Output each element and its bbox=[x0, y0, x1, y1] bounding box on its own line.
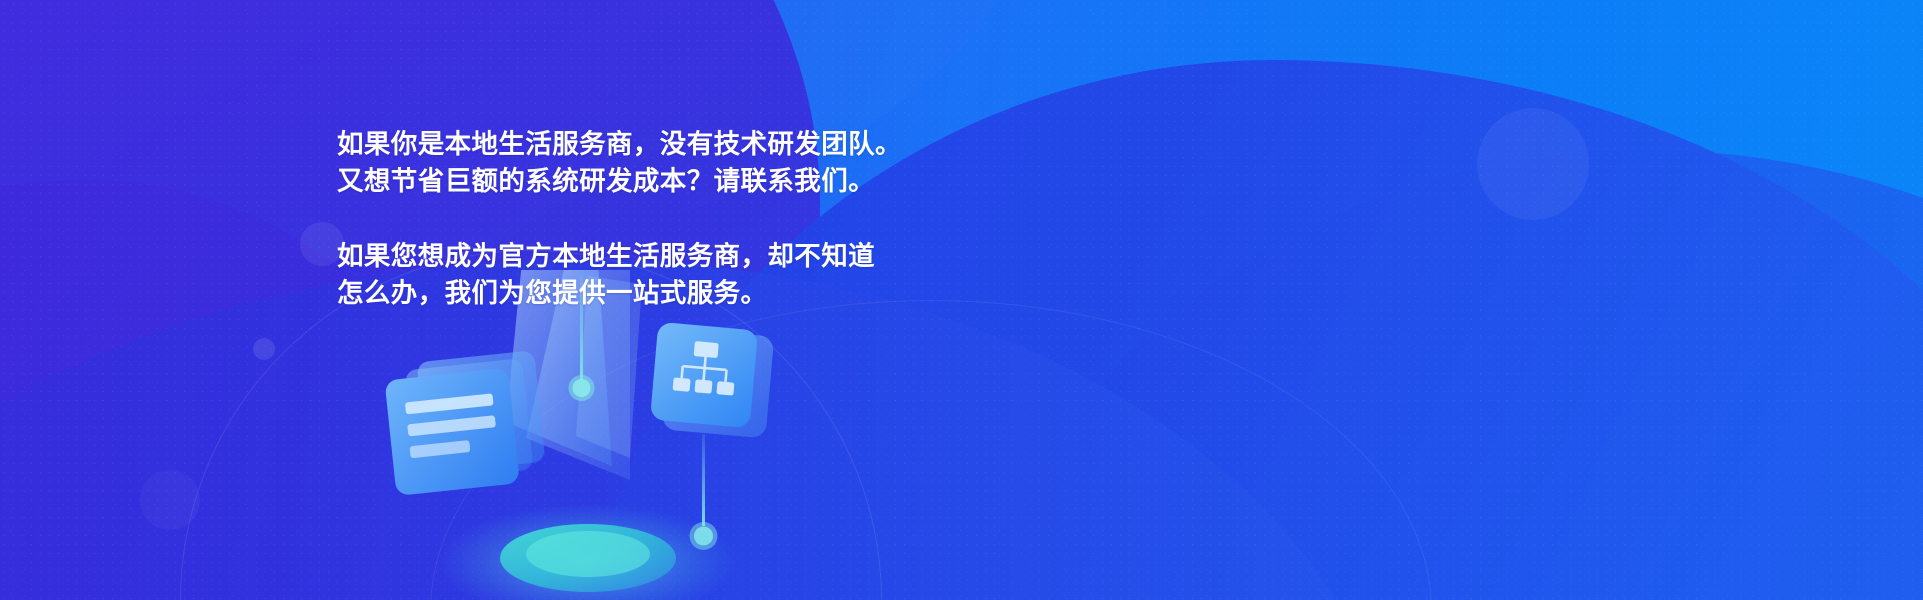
glow-ellipse-icon bbox=[438, 504, 738, 600]
banner-stage: 如果你是本地生活服务商，没有技术研发团队。 又想节省巨额的系统研发成本？请联系我… bbox=[0, 0, 1923, 600]
org-chart-card-icon bbox=[650, 322, 774, 439]
promo-line: 如果你是本地生活服务商，没有技术研发团队。 bbox=[337, 126, 1057, 163]
promo-copy: 如果你是本地生活服务商，没有技术研发团队。 又想节省巨额的系统研发成本？请联系我… bbox=[337, 126, 1057, 312]
promo-line: 如果您想成为官方本地生活服务商，却不知道 bbox=[337, 238, 1057, 275]
decorative-circle bbox=[253, 338, 275, 360]
decorative-circle bbox=[1477, 108, 1589, 220]
document-card-icon bbox=[384, 368, 519, 496]
hero-illustration bbox=[330, 270, 890, 600]
promo-line: 又想节省巨额的系统研发成本？请联系我们。 bbox=[337, 163, 1057, 200]
promo-line: 怎么办，我们为您提供一站式服务。 bbox=[337, 275, 1057, 312]
decorative-circle bbox=[140, 470, 200, 530]
